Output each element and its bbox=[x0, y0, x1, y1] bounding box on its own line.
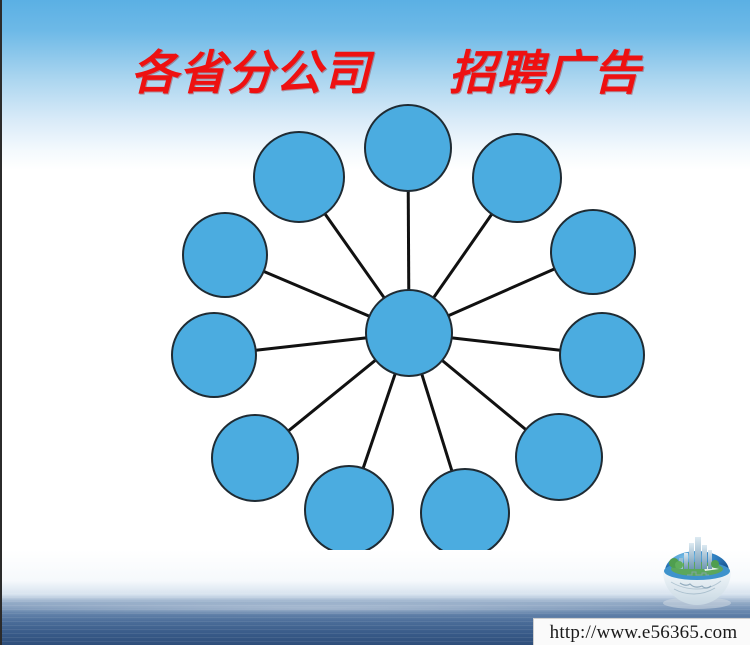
satellite-circle-10[interactable] bbox=[183, 213, 267, 297]
diagram-svg bbox=[2, 0, 750, 645]
satellite-node-11[interactable] bbox=[254, 132, 344, 222]
spoke-line-10 bbox=[263, 271, 371, 317]
slide-canvas: 各省分公司招聘广告 bbox=[0, 0, 750, 645]
satellite-circle-11[interactable] bbox=[254, 132, 344, 222]
satellite-node-6[interactable] bbox=[421, 469, 509, 557]
spoke-line-2 bbox=[433, 213, 492, 298]
satellite-node-5[interactable] bbox=[516, 414, 602, 500]
spoke-line-7 bbox=[363, 373, 396, 469]
satellite-circle-1[interactable] bbox=[365, 105, 451, 191]
satellite-node-8[interactable] bbox=[212, 415, 298, 501]
spoke-line-9 bbox=[255, 338, 368, 351]
satellite-node-10[interactable] bbox=[183, 213, 267, 297]
spoke-line-11 bbox=[324, 213, 384, 299]
satellite-node-3[interactable] bbox=[551, 210, 635, 294]
satellite-circle-2[interactable] bbox=[473, 134, 561, 222]
satellite-circle-8[interactable] bbox=[212, 415, 298, 501]
globe-city-icon bbox=[647, 527, 747, 617]
hub-and-spoke-diagram bbox=[2, 0, 750, 645]
satellite-node-7[interactable] bbox=[305, 466, 393, 554]
satellite-circle-3[interactable] bbox=[551, 210, 635, 294]
spoke-line-6 bbox=[421, 373, 452, 472]
satellite-node-2[interactable] bbox=[473, 134, 561, 222]
watermark-url-box: http://www.e56365.com bbox=[533, 618, 750, 645]
spoke-line-4 bbox=[451, 338, 562, 351]
satellite-node-1[interactable] bbox=[365, 105, 451, 191]
spoke-line-8 bbox=[288, 359, 377, 431]
satellite-circle-4[interactable] bbox=[560, 313, 644, 397]
watermark-url-text: http://www.e56365.com bbox=[550, 622, 738, 644]
satellite-circle-9[interactable] bbox=[172, 313, 256, 397]
spoke-line-3 bbox=[447, 269, 555, 317]
satellite-circle-5[interactable] bbox=[516, 414, 602, 500]
hub-node[interactable] bbox=[366, 290, 452, 376]
spoke-line-1 bbox=[408, 190, 409, 291]
satellite-circle-6[interactable] bbox=[421, 469, 509, 557]
satellite-node-4[interactable] bbox=[560, 313, 644, 397]
node-circles-group bbox=[172, 105, 644, 557]
satellite-circle-7[interactable] bbox=[305, 466, 393, 554]
hub-circle[interactable] bbox=[366, 290, 452, 376]
satellite-node-9[interactable] bbox=[172, 313, 256, 397]
spoke-line-5 bbox=[441, 360, 526, 430]
